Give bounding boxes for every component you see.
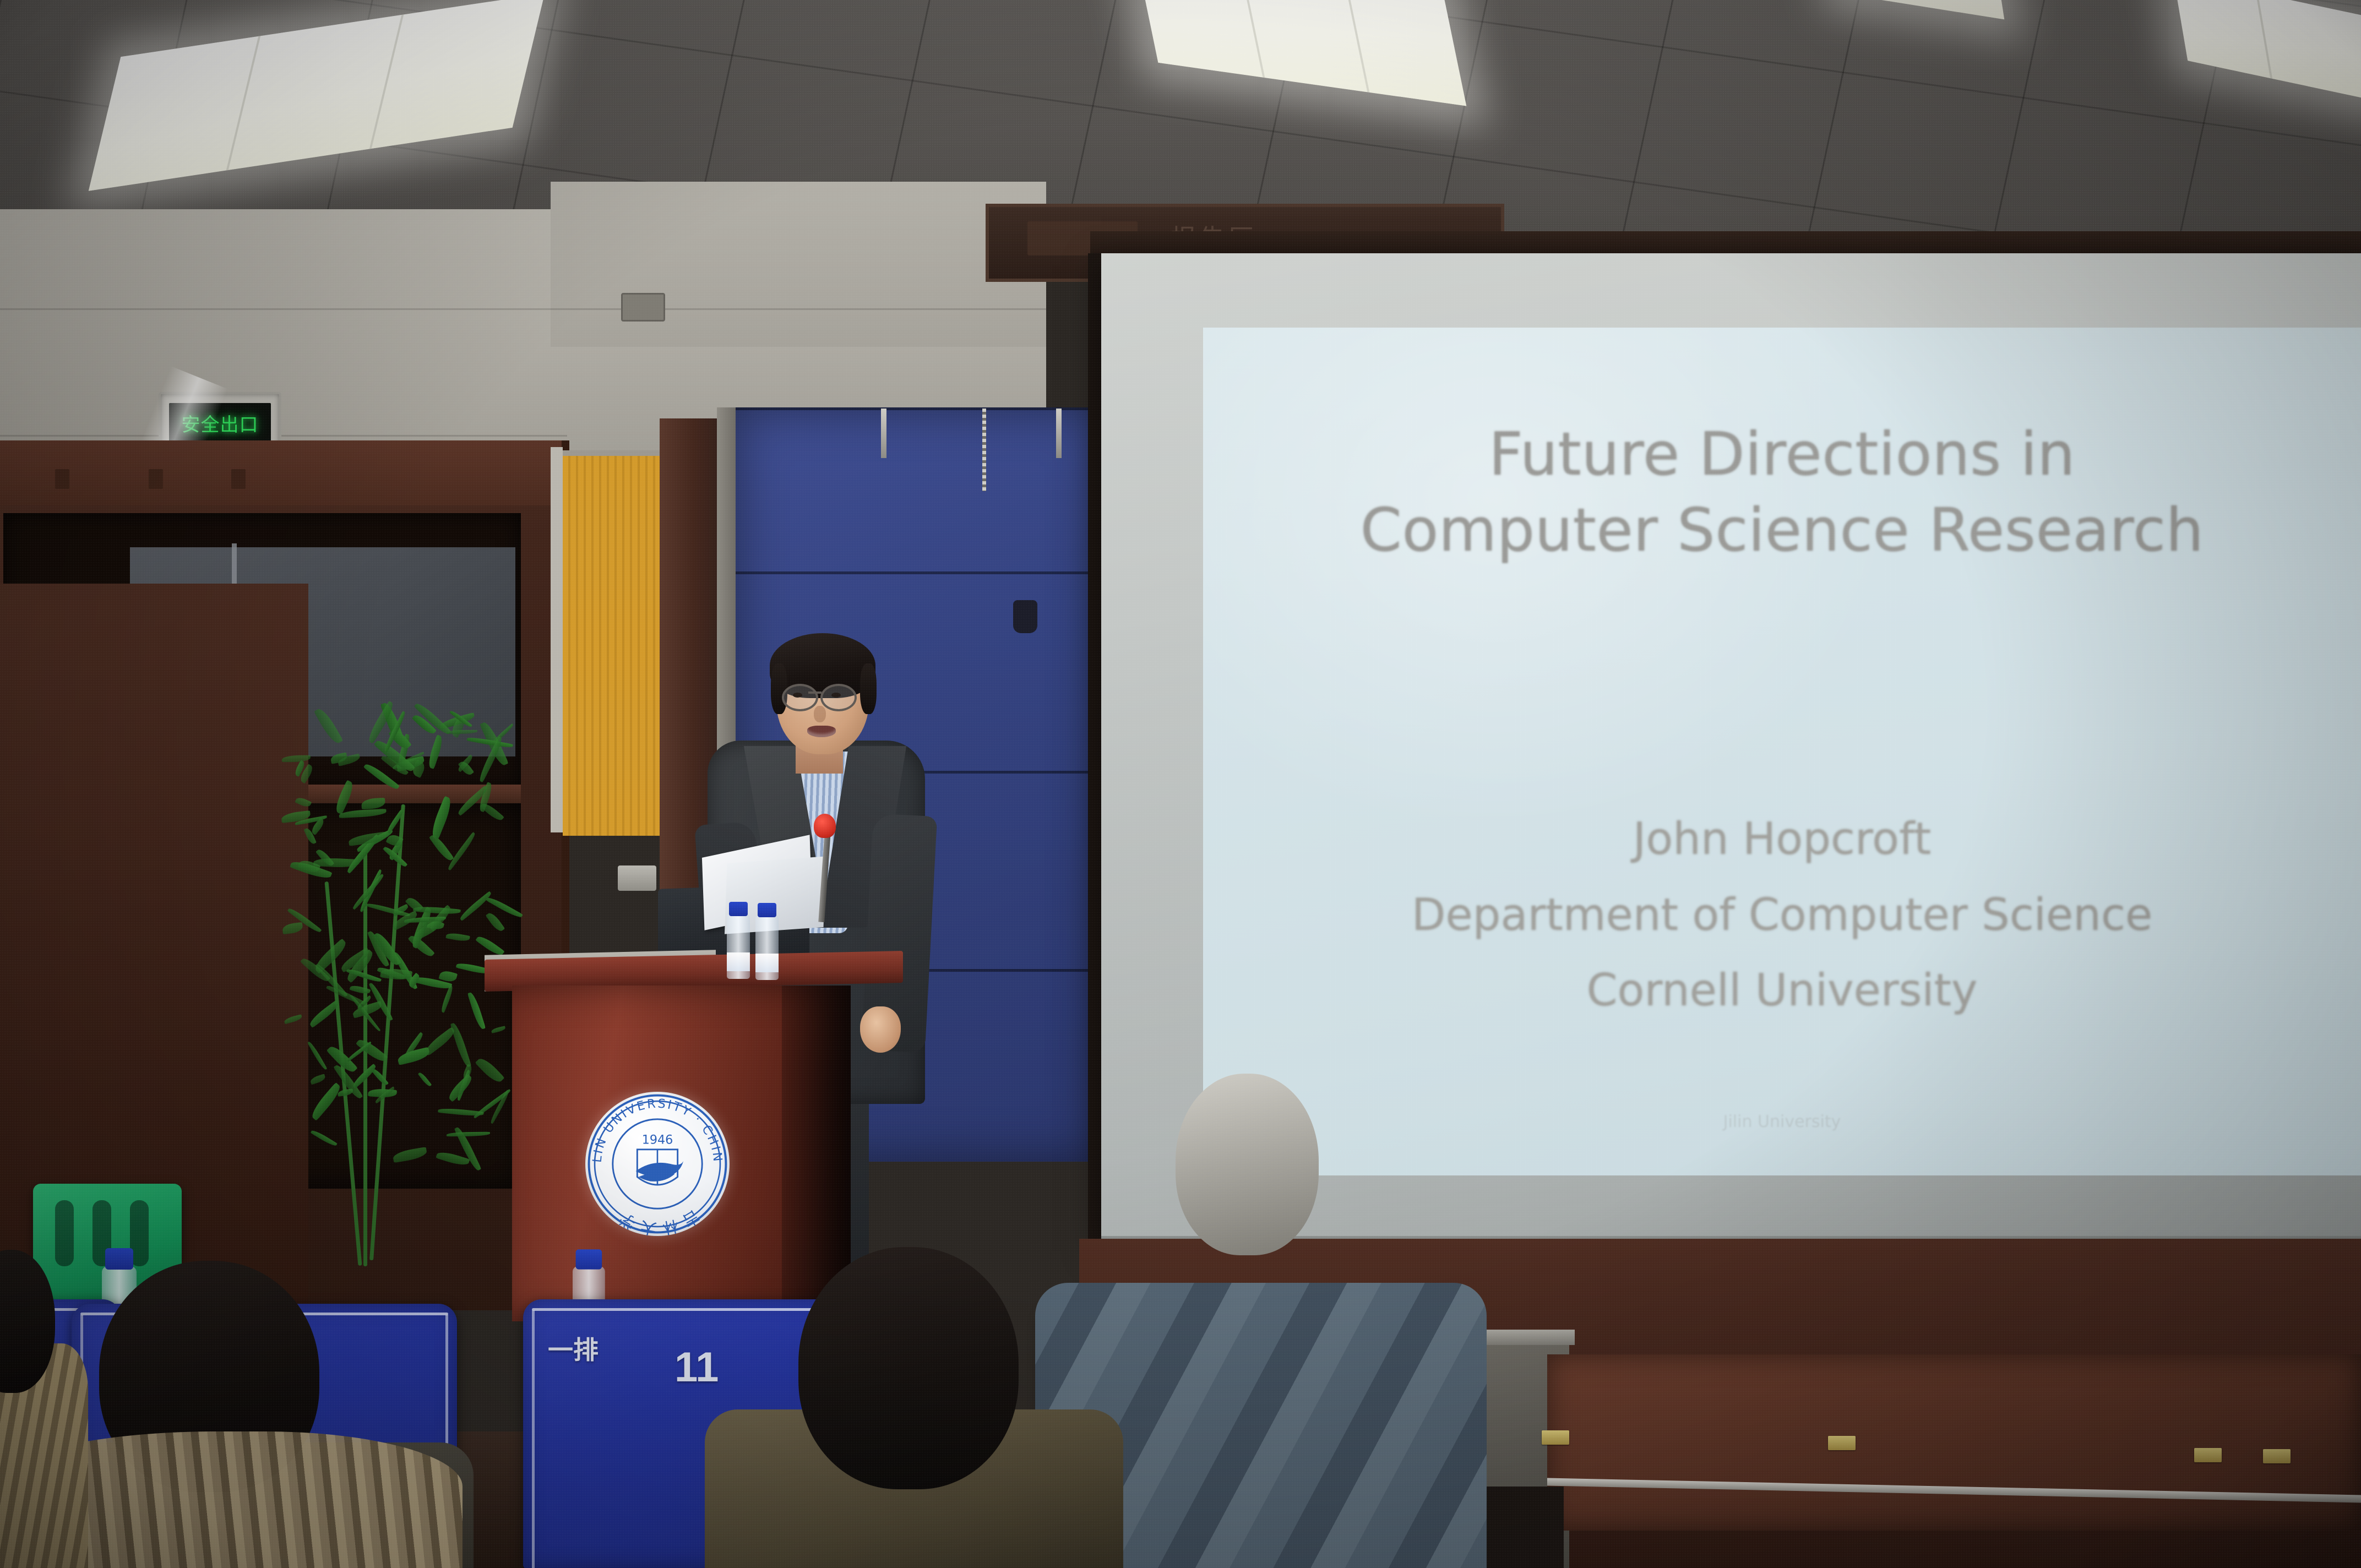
attendee-dark-hair-head — [798, 1247, 1019, 1489]
water-bottle[interactable] — [755, 915, 779, 980]
eyeglasses-icon — [820, 684, 857, 711]
slide-title-line2: Computer Science Research — [1203, 493, 2361, 569]
plant-leaf — [307, 1000, 340, 1027]
wall-fixture — [1013, 600, 1037, 633]
plant-leaf — [282, 922, 303, 934]
wall-seam — [0, 435, 567, 437]
plant-leaf — [308, 1082, 344, 1120]
svg-text:1946: 1946 — [642, 1133, 673, 1147]
plant-leaf — [418, 1071, 432, 1087]
plant-leaf — [295, 796, 312, 809]
plant-leaf — [307, 1041, 327, 1071]
eyeglasses-icon — [782, 684, 818, 711]
speaker-nose — [814, 706, 826, 722]
plant-leaf — [438, 1107, 484, 1117]
plant-leaf — [339, 809, 387, 818]
panel-frame — [551, 447, 563, 832]
stage-brass-plate — [1542, 1430, 1569, 1445]
plant-leaf — [314, 706, 343, 747]
plant-leaf — [446, 1131, 489, 1136]
plant-leaf — [445, 831, 477, 870]
plant-leaf — [467, 992, 486, 1031]
stage-brass-plate — [1828, 1436, 1856, 1450]
chair-seat-number: 11 — [674, 1343, 719, 1391]
emblem-artwork: JILIN UNIVERSITY · CHINA 吉林大学 1946 — [585, 1092, 730, 1236]
wall-seam — [0, 308, 1046, 310]
plant-leaf — [309, 1074, 327, 1085]
ceiling-chain — [982, 409, 986, 491]
plant-leaf — [350, 984, 371, 995]
speaker-hand — [860, 1006, 901, 1053]
slide-title-line1: Future Directions in — [1203, 417, 2361, 493]
slide-author-block: John Hopcroft Department of Computer Sci… — [1203, 801, 2361, 1028]
plant-leaf — [428, 796, 454, 840]
ceiling-rod — [881, 409, 886, 458]
stage-brass-plate — [2263, 1449, 2291, 1463]
bottle-cap — [729, 902, 748, 916]
plant-leaf — [282, 755, 311, 763]
plant-leaf — [361, 798, 385, 810]
stage-front-face — [1547, 1354, 2361, 1531]
microphone-icon — [814, 814, 836, 838]
projected-slide: Future Directions in Computer Science Re… — [1203, 328, 2361, 1175]
plant-leaf — [428, 832, 454, 863]
slide-author-name: John Hopcroft — [1203, 801, 2361, 877]
slide-title: Future Directions in Computer Science Re… — [1203, 417, 2361, 569]
speaker-mouth — [807, 726, 836, 737]
plant-leaf — [491, 1026, 506, 1033]
slide-affiliation-university: Cornell University — [1203, 952, 2361, 1028]
bottle-cap — [105, 1248, 133, 1270]
bottle-cap — [576, 1249, 602, 1269]
back-wall-upper-right — [551, 182, 1046, 347]
cabinet-top-rail — [0, 440, 562, 505]
plant-leaf — [392, 1147, 427, 1162]
plant-leaf — [333, 780, 356, 815]
plant-leaf — [311, 1129, 338, 1147]
plant-leaf — [413, 905, 461, 916]
slide-footer-text: Jilin University — [1203, 1112, 2361, 1131]
plant-leaf — [447, 730, 477, 734]
plant-leaf — [446, 932, 471, 943]
plant-leaf — [486, 911, 505, 934]
stage-brass-plate — [2194, 1448, 2222, 1462]
yellow-wall-panel — [563, 450, 660, 836]
power-outlet[interactable] — [618, 865, 656, 891]
bottle-cap — [758, 903, 776, 917]
eyeglasses-bridge — [808, 692, 822, 694]
bottle-label — [755, 954, 779, 972]
plant-leaf — [284, 1014, 303, 1024]
plant-leaf — [475, 1055, 504, 1085]
attendee-gray-hair-head — [1176, 1074, 1319, 1255]
lecture-hall-photo: 安全出口 报告厅 — [0, 0, 2361, 1568]
plant-leaf — [440, 985, 455, 1013]
potted-plant — [259, 710, 518, 1283]
jilin-university-emblem: JILIN UNIVERSITY · CHINA 吉林大学 1946 — [585, 1092, 730, 1236]
ceiling-rod — [1056, 409, 1062, 458]
chair-row-label: 一排 — [548, 1337, 599, 1363]
bottle-label — [727, 952, 750, 971]
slide-glare — [1203, 328, 1898, 836]
water-bottle[interactable] — [727, 914, 750, 979]
wall-mounted-device — [621, 293, 665, 322]
slide-affiliation-department: Department of Computer Science — [1203, 877, 2361, 953]
plant-leaf — [426, 735, 445, 769]
